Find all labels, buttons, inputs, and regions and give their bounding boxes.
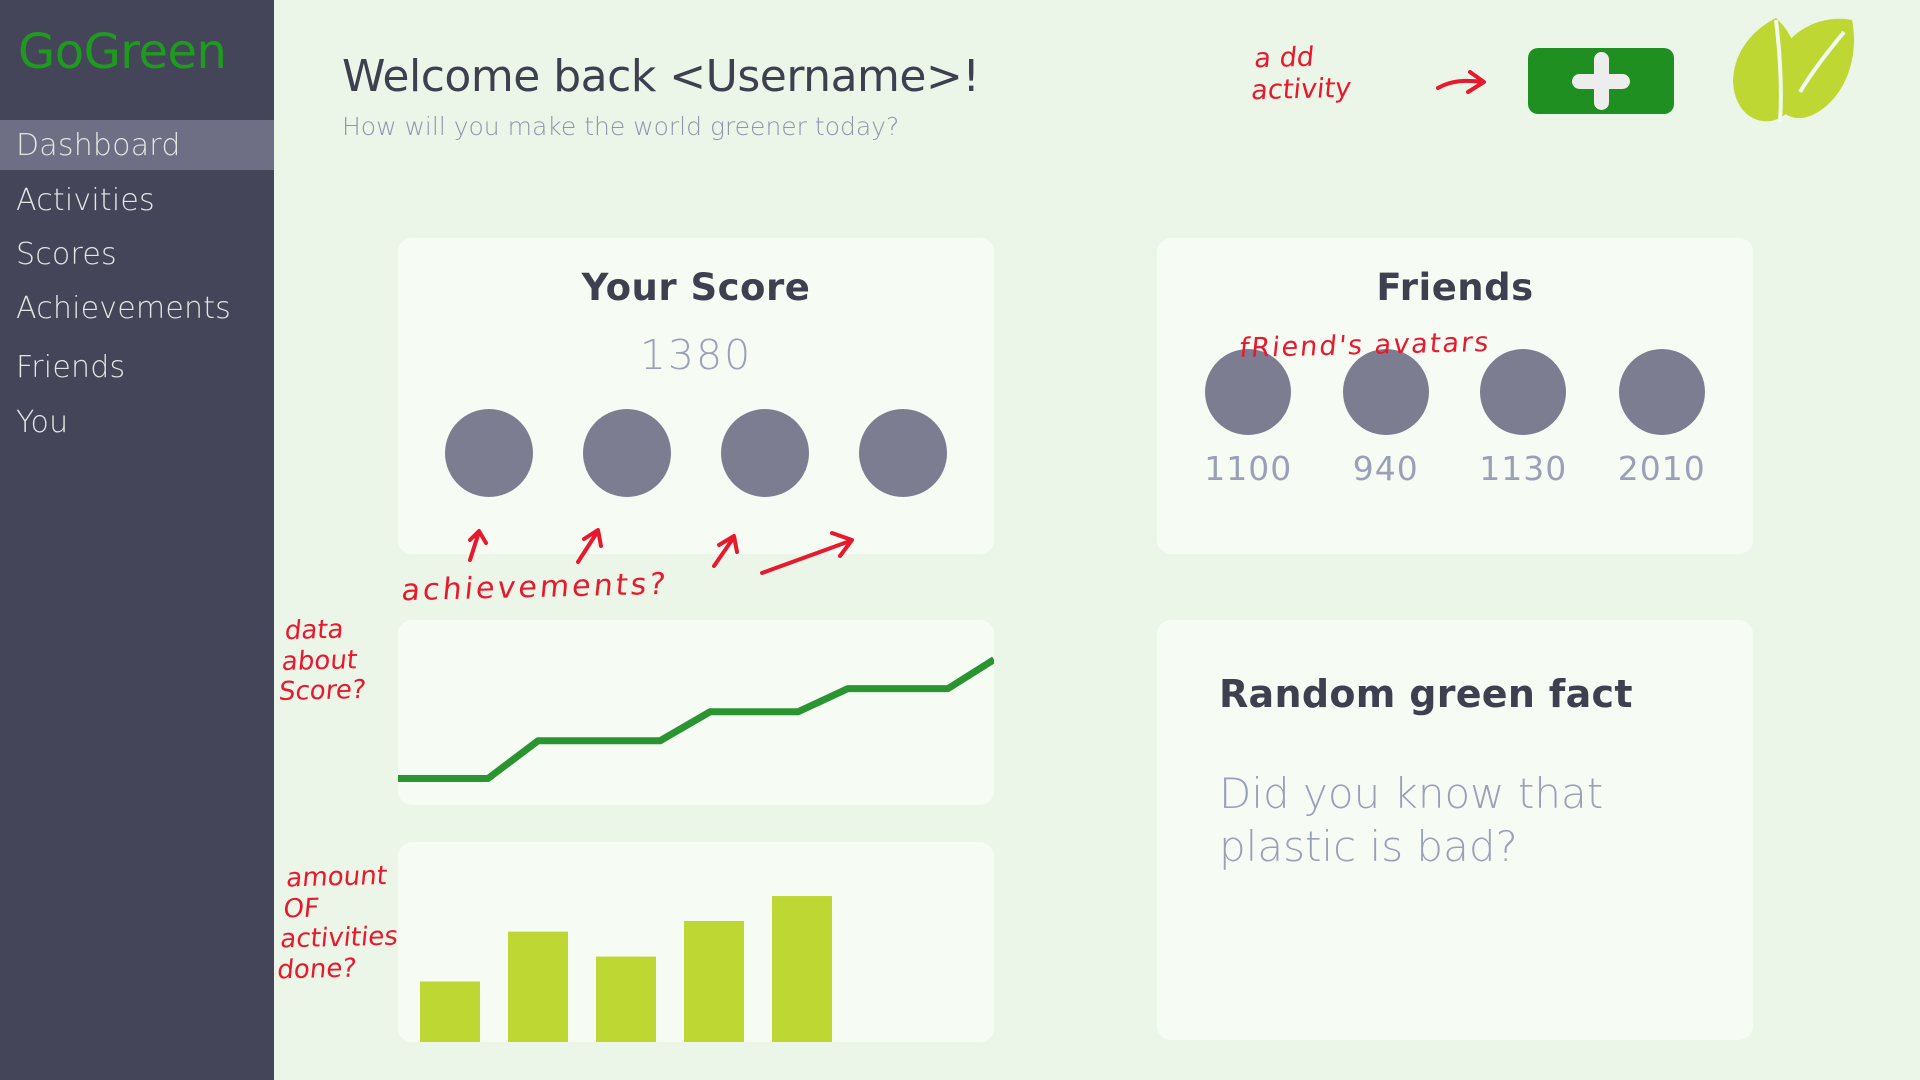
fact-text: Did you know that plastic is bad? [1219,768,1679,873]
friend-entry[interactable]: 1100 [1204,349,1292,488]
avatar [1480,349,1566,435]
score-over-time-line-chart [398,620,994,805]
bar [772,896,832,1042]
annotation-activities-amount: amount OF activities done? [276,861,406,987]
friend-score: 2010 [1618,449,1706,488]
achievement-icon [445,409,533,497]
sidebar-item-achievements[interactable]: Achievements [0,283,274,333]
page-title: Welcome back <Username>! [342,51,979,102]
sidebar-item-you[interactable]: You [0,397,274,447]
achievement-badge[interactable] [721,409,809,497]
sidebar: GoGreen Dashboard Activities Scores Achi… [0,0,274,1080]
dashboard-page: GoGreen Dashboard Activities Scores Achi… [0,0,1920,1080]
friend-entry[interactable]: 940 [1343,349,1429,488]
bar [596,957,656,1042]
sidebar-item-label: Activities [16,183,155,218]
card-title: Random green fact [1219,672,1753,716]
sidebar-item-label: Friends [16,350,125,385]
card-title: Your Score [398,266,994,309]
sidebar-item-dashboard[interactable]: Dashboard [0,120,274,170]
friends-card: Friends 1100 940 1130 2010 [1157,238,1753,554]
score-value: 1380 [398,331,994,379]
achievement-icon [583,409,671,497]
achievement-icon [721,409,809,497]
sidebar-item-scores[interactable]: Scores [0,229,274,279]
sidebar-item-activities[interactable]: Activities [0,175,274,225]
add-activity-button[interactable] [1528,48,1674,114]
friend-avatar-row: 1100 940 1130 2010 [1157,349,1753,488]
activities-bar-chart-card [398,842,994,1042]
achievement-badge[interactable] [583,409,671,497]
annotation-achievements: achievements? [400,567,670,609]
friend-score: 1100 [1204,449,1292,488]
brand-logo-text[interactable]: GoGreen [18,24,226,80]
score-line-chart-card [398,620,994,805]
bar [508,932,568,1042]
annotation-score-data: data about Score? [277,614,373,708]
bar [684,921,744,1042]
avatar [1205,349,1291,435]
sidebar-item-label: Achievements [16,291,231,326]
page-subtitle: How will you make the world greener toda… [342,112,899,141]
sidebar-item-label: Dashboard [16,128,181,163]
line-series [398,660,994,779]
sidebar-item-label: Scores [16,237,117,272]
achievement-badge[interactable] [445,409,533,497]
friend-score: 1130 [1479,449,1567,488]
sidebar-item-friends[interactable]: Friends [0,342,274,392]
two-leaves-logo [1718,10,1858,130]
achievement-badge[interactable] [859,409,947,497]
avatar [1343,349,1429,435]
friend-score: 940 [1353,449,1419,488]
your-score-card: Your Score 1380 [398,238,994,554]
sidebar-item-label: You [16,405,68,440]
activities-done-bar-chart [398,842,994,1042]
achievement-icon [859,409,947,497]
random-green-fact-card: Random green fact Did you know that plas… [1157,620,1753,1040]
bar [420,981,480,1042]
arrow-add-activity [1438,81,1482,88]
friend-entry[interactable]: 2010 [1618,349,1706,488]
plus-icon-vertical [1594,52,1609,110]
avatar [1619,349,1705,435]
achievement-badge-row [398,409,994,497]
card-title: Friends [1157,266,1753,309]
friend-entry[interactable]: 1130 [1479,349,1567,488]
annotation-add-activity: a dd activity [1250,41,1356,107]
